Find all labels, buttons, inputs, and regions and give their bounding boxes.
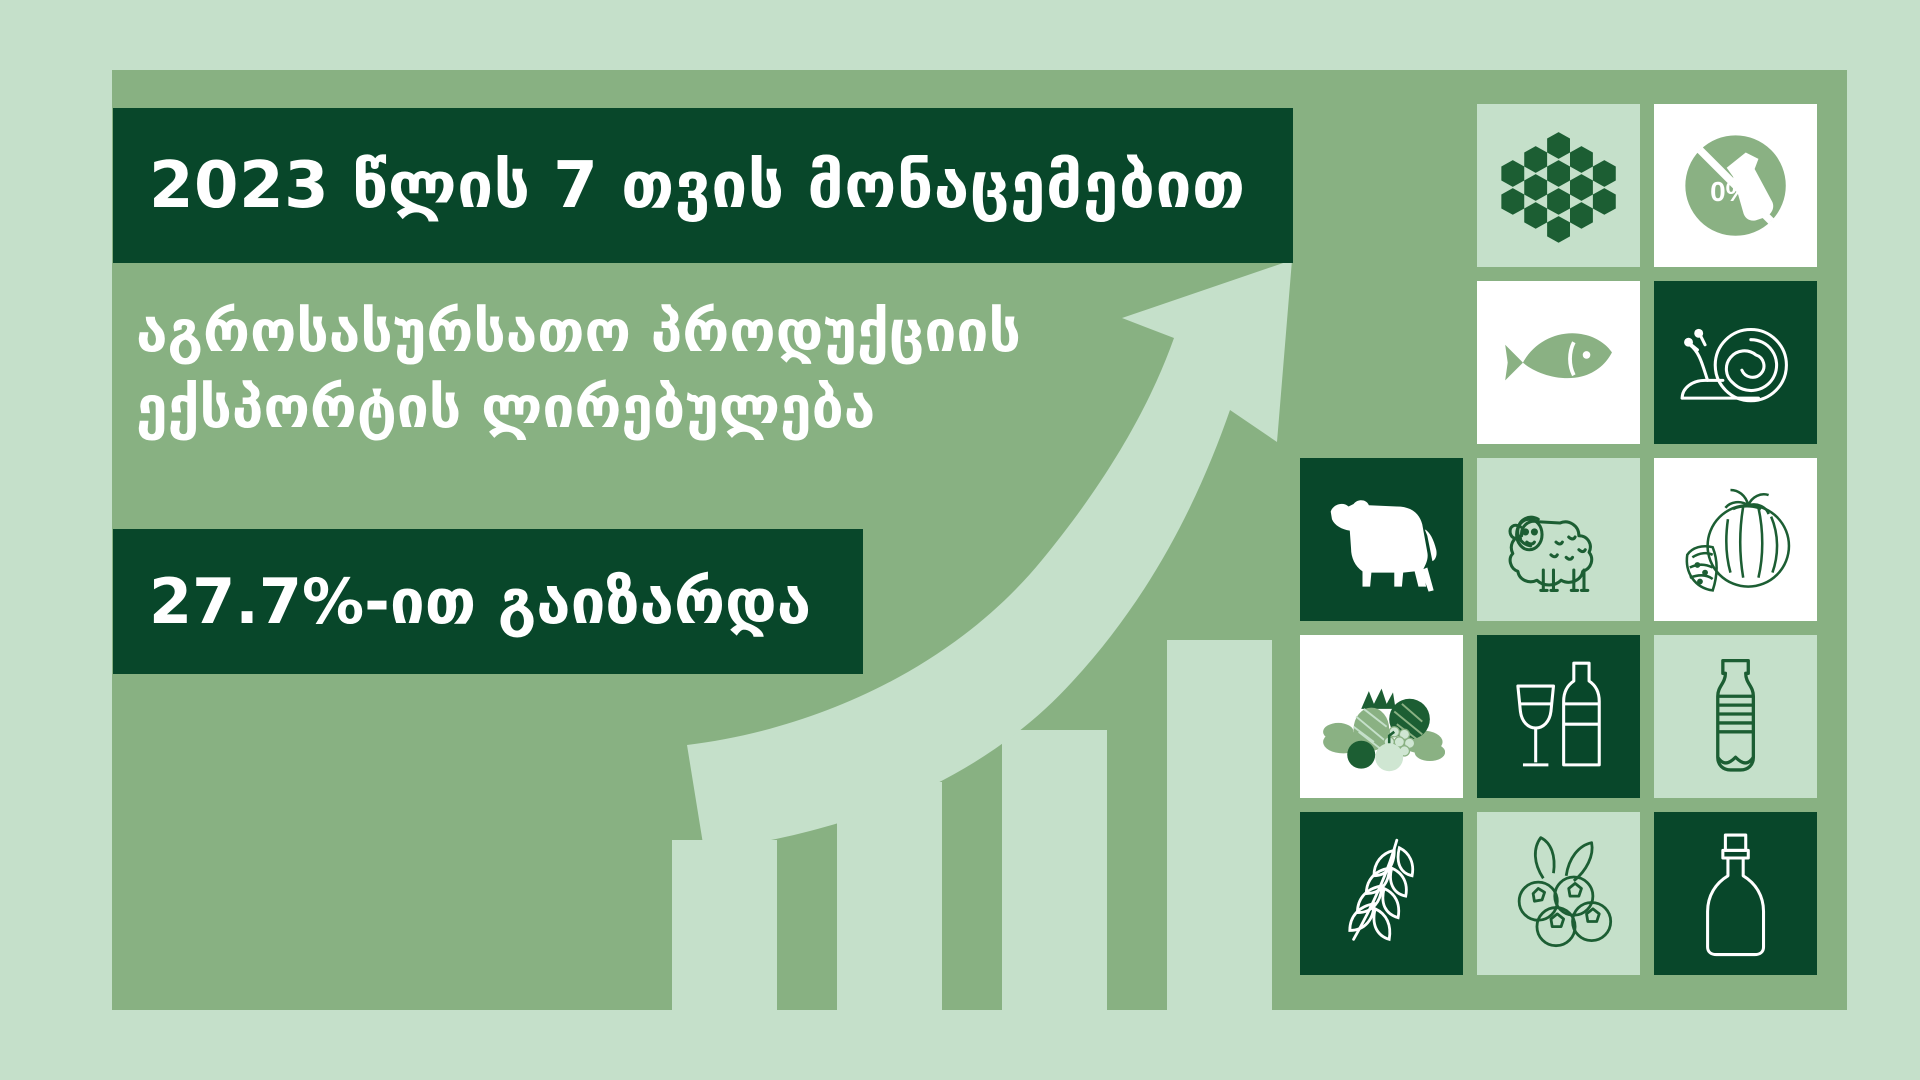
highlight-banner: 27.7%-ით გაიზარდა	[113, 529, 863, 674]
infographic-canvas: 2023 წლის 7 თვის მონაცემებით აგროსასურსა…	[0, 0, 1920, 1080]
tile-honeycomb[interactable]	[1477, 104, 1640, 267]
tile-water-bottle[interactable]	[1654, 635, 1817, 798]
subtitle-line-2: ექსპორტის ლირებულება	[136, 371, 1236, 447]
tile-melon[interactable]	[1654, 458, 1817, 621]
snail-icon	[1672, 299, 1799, 426]
tile-herb[interactable]	[1300, 812, 1463, 975]
tile-cow[interactable]	[1300, 458, 1463, 621]
herb-branch-icon	[1318, 830, 1445, 957]
tile-nuts[interactable]	[1477, 812, 1640, 975]
cow-icon	[1318, 476, 1445, 603]
title-banner: 2023 წლის 7 თვის მონაცემებით	[113, 108, 1293, 263]
wine-bottle-glass-icon	[1495, 653, 1622, 780]
growth-percent-text: 27.7%-ით გაიზარდა	[149, 565, 811, 638]
no-alcohol-icon: 0%	[1672, 122, 1799, 249]
subtitle-line-1: აგროსასურსათო პროდუქციის	[136, 295, 1236, 371]
page-title: 2023 წლის 7 თვის მონაცემებით	[149, 149, 1246, 223]
no-alcohol-badge: 0%	[1710, 176, 1751, 207]
fish-icon	[1495, 299, 1622, 426]
grid-spacer	[1300, 104, 1463, 267]
honeycomb-icon	[1495, 122, 1622, 249]
tile-no-alcohol[interactable]: 0%	[1654, 104, 1817, 267]
tile-sheep[interactable]	[1477, 458, 1640, 621]
tile-snail[interactable]	[1654, 281, 1817, 444]
melon-icon	[1672, 476, 1799, 603]
tile-wine[interactable]	[1477, 635, 1640, 798]
glass-bottle-icon	[1672, 830, 1799, 957]
tile-glass-bottle[interactable]	[1654, 812, 1817, 975]
product-icon-grid: 0%	[1300, 104, 1845, 975]
tile-fruit-basket[interactable]	[1300, 635, 1463, 798]
water-bottle-icon	[1672, 653, 1799, 780]
fruit-basket-icon	[1318, 653, 1445, 780]
sheep-icon	[1495, 476, 1622, 603]
grid-spacer	[1300, 281, 1463, 444]
nuts-icon	[1495, 830, 1622, 957]
subtitle-block: აგროსასურსათო პროდუქციის ექსპორტის ლირებ…	[136, 295, 1236, 447]
tile-fish[interactable]	[1477, 281, 1640, 444]
